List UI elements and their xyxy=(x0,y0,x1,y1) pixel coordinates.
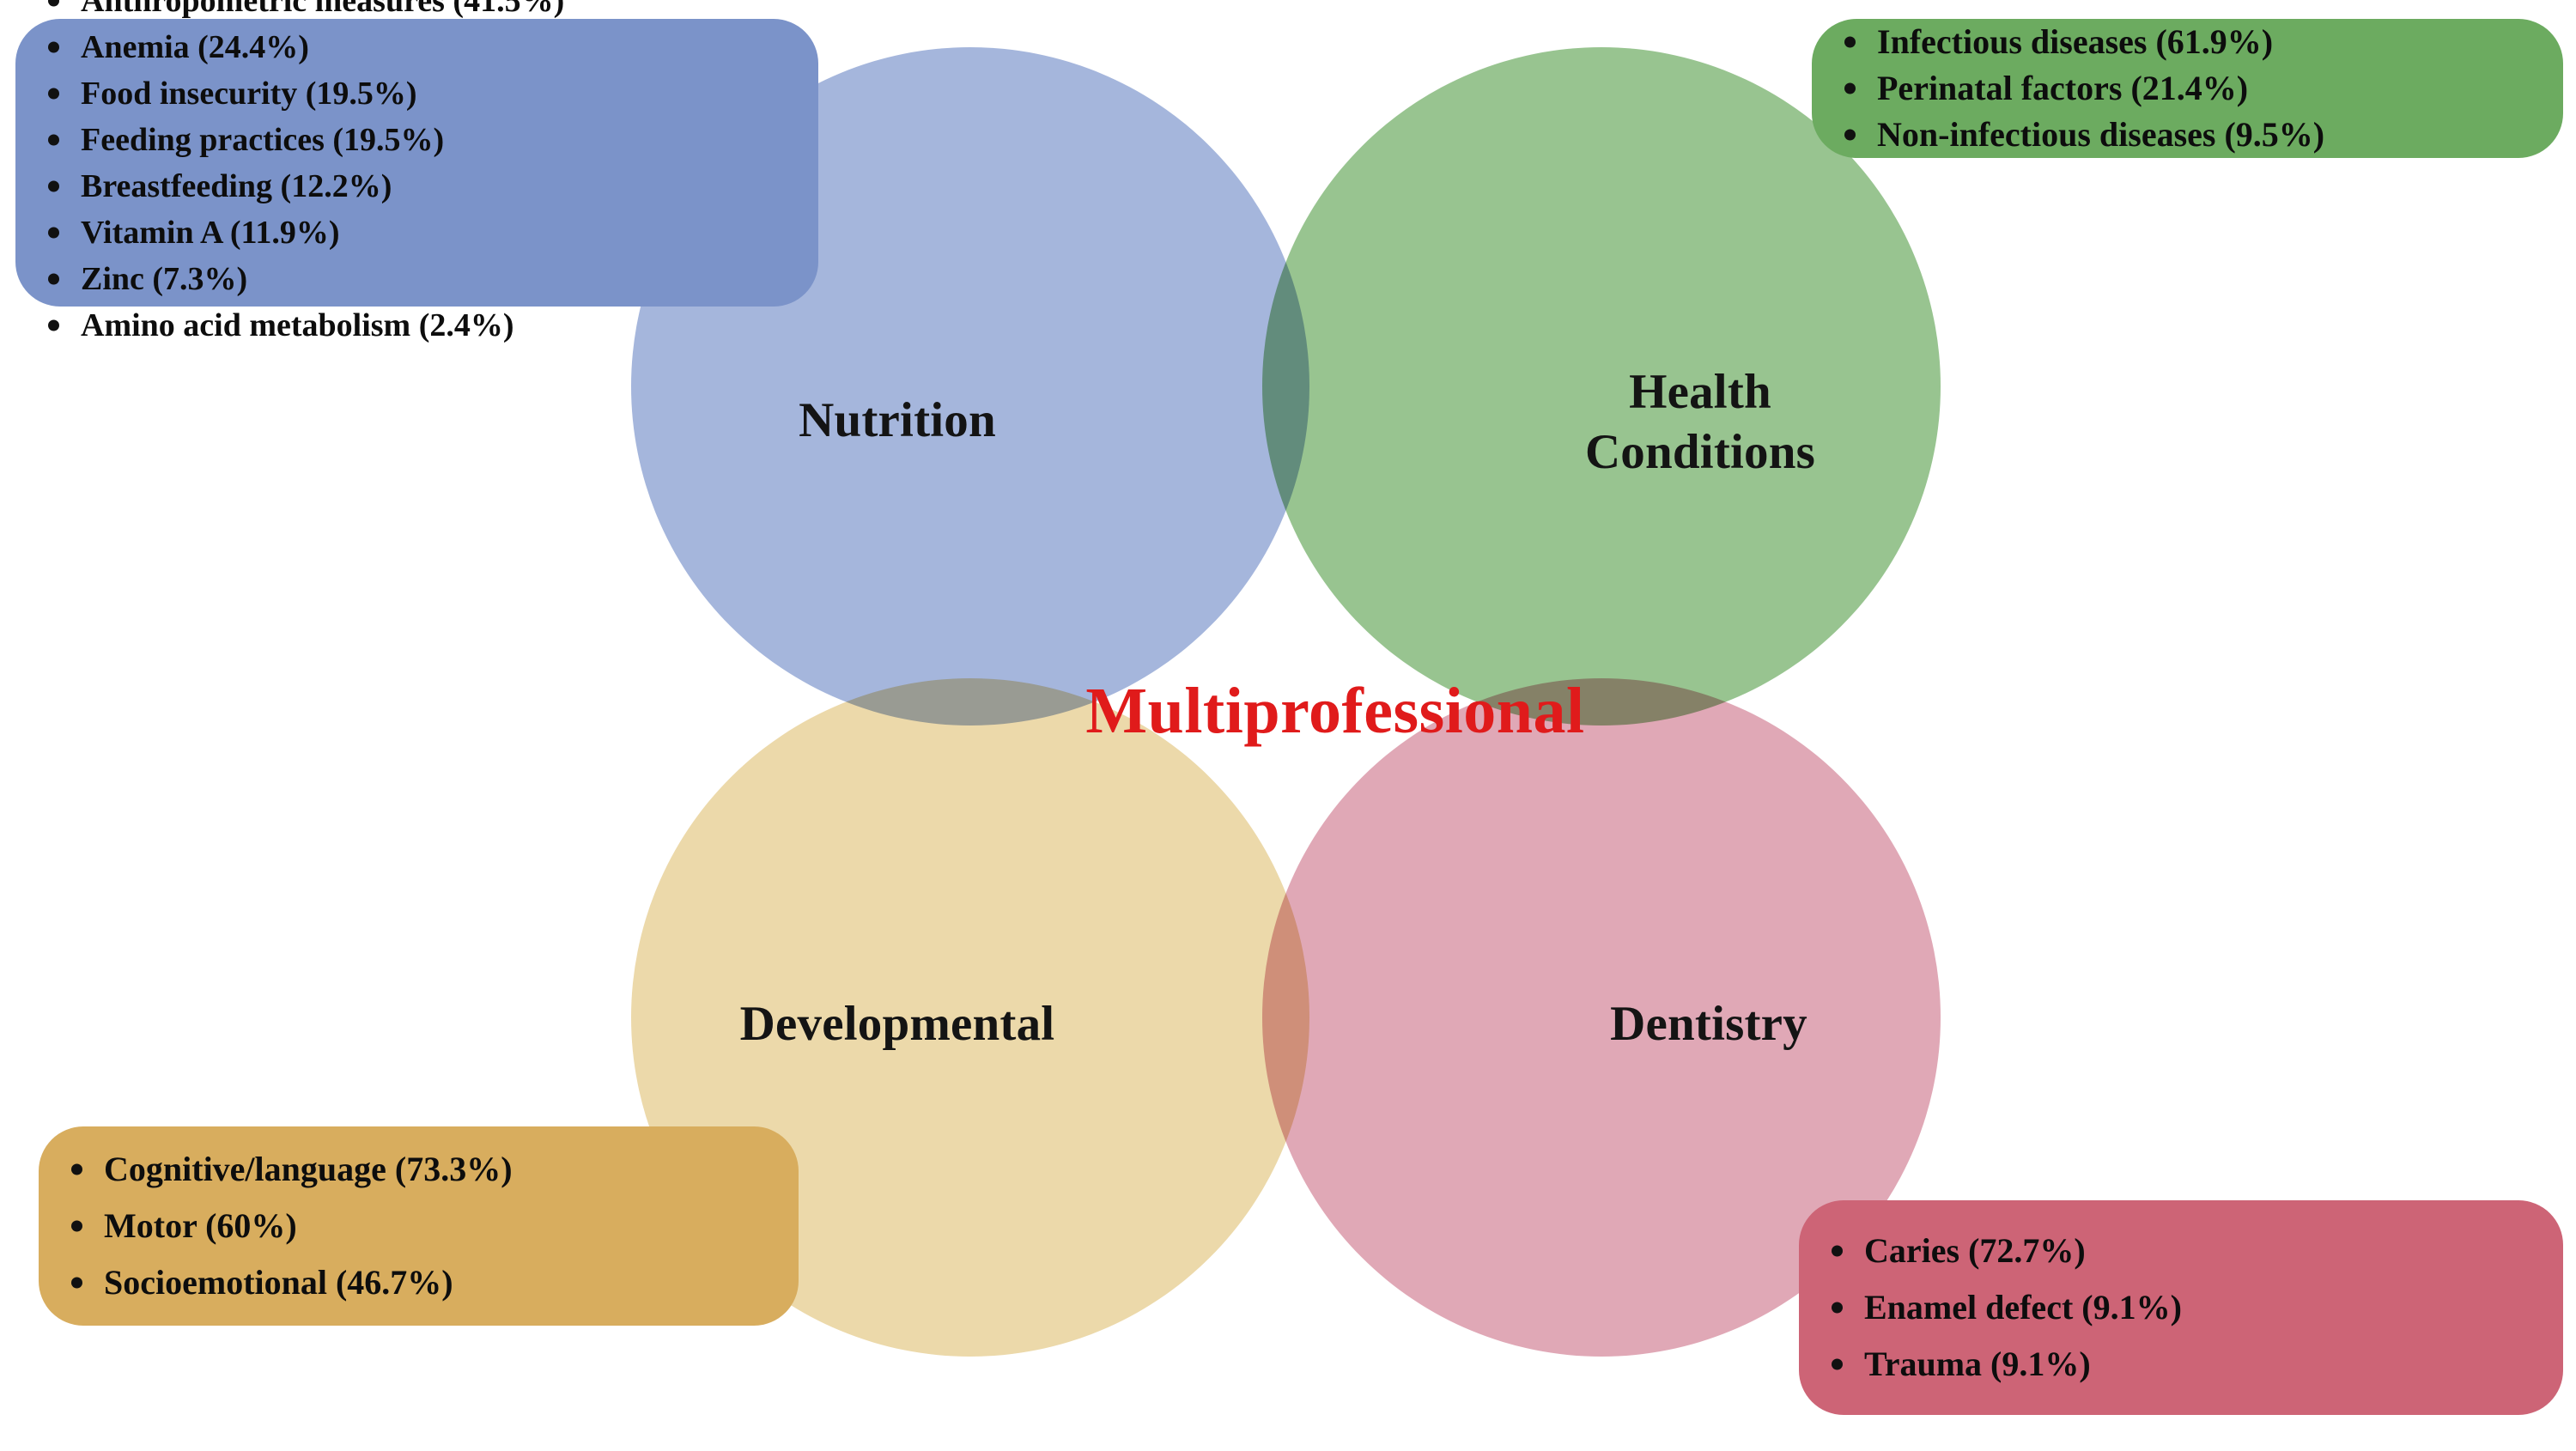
venn-label-dentistry: Dentistry xyxy=(1537,994,1880,1054)
venn-label-health: Health Conditions xyxy=(1511,362,1889,482)
list-item: Perinatal factors (21.4%) xyxy=(1838,71,2534,106)
list-item: Motor (60%) xyxy=(64,1209,769,1243)
bullet-icon xyxy=(1844,83,1856,94)
list-item-label: Caries (72.7%) xyxy=(1864,1231,2086,1270)
list-item: Anemia (24.4%) xyxy=(41,31,789,64)
list-item-label: Cognitive/language (73.3%) xyxy=(104,1150,513,1188)
venn-label-nutrition: Nutrition xyxy=(726,391,1069,451)
bullet-icon xyxy=(48,41,59,52)
list-item: Food insecurity (19.5%) xyxy=(41,77,789,110)
list-item: Feeding practices (19.5%) xyxy=(41,124,789,156)
callout-dentistry: Caries (72.7%) Enamel defect (9.1%) Trau… xyxy=(1799,1200,2563,1415)
list-item-label: Motor (60%) xyxy=(104,1206,297,1245)
callout-nutrition: Anthropometric measures (41.5%) Anemia (… xyxy=(15,19,818,307)
bullet-icon xyxy=(71,1164,82,1175)
list-item: Anthropometric measures (41.5%) xyxy=(41,0,789,17)
list-item: Infectious diseases (61.9%) xyxy=(1838,25,2534,59)
bullet-icon xyxy=(48,319,59,331)
list-item-label: Enamel defect (9.1%) xyxy=(1864,1288,2182,1327)
callout-health-list: Infectious diseases (61.9%) Perinatal fa… xyxy=(1838,25,2534,152)
list-item-label: Zinc (7.3%) xyxy=(81,261,247,297)
list-item-label: Anthropometric measures (41.5%) xyxy=(81,0,564,19)
list-item-label: Perinatal factors (21.4%) xyxy=(1877,69,2248,107)
list-item-label: Food insecurity (19.5%) xyxy=(81,76,417,112)
center-title: Multiprofessional xyxy=(876,674,1795,749)
bullet-icon xyxy=(48,227,59,238)
list-item: Caries (72.7%) xyxy=(1825,1234,2534,1268)
list-item: Trauma (9.1%) xyxy=(1825,1347,2534,1381)
bullet-icon xyxy=(48,180,59,191)
bullet-icon xyxy=(1832,1302,1843,1314)
list-item: Zinc (7.3%) xyxy=(41,263,789,295)
venn-label-developmental: Developmental xyxy=(713,994,1082,1054)
venn-diagram-canvas: Nutrition Health Conditions Developmenta… xyxy=(0,0,2576,1451)
bullet-icon xyxy=(71,1278,82,1289)
list-item: Vitamin A (11.9%) xyxy=(41,216,789,249)
callout-nutrition-list: Anthropometric measures (41.5%) Anemia (… xyxy=(41,0,789,342)
callout-developmental-list: Cognitive/language (73.3%) Motor (60%) S… xyxy=(64,1152,769,1300)
bullet-icon xyxy=(1844,37,1856,48)
callout-developmental: Cognitive/language (73.3%) Motor (60%) S… xyxy=(39,1126,799,1326)
list-item-label: Trauma (9.1%) xyxy=(1864,1345,2091,1383)
bullet-icon xyxy=(48,273,59,284)
list-item-label: Anemia (24.4%) xyxy=(81,29,309,65)
callout-dentistry-list: Caries (72.7%) Enamel defect (9.1%) Trau… xyxy=(1825,1234,2534,1381)
list-item: Non-infectious diseases (9.5%) xyxy=(1838,118,2534,152)
list-item-label: Amino acid metabolism (2.4%) xyxy=(81,307,514,343)
list-item: Amino acid metabolism (2.4%) xyxy=(41,309,789,342)
list-item: Enamel defect (9.1%) xyxy=(1825,1290,2534,1325)
bullet-icon xyxy=(48,134,59,145)
bullet-icon xyxy=(1844,130,1856,141)
list-item-label: Feeding practices (19.5%) xyxy=(81,122,444,158)
list-item-label: Infectious diseases (61.9%) xyxy=(1877,22,2273,61)
bullet-icon xyxy=(71,1221,82,1232)
list-item-label: Non-infectious diseases (9.5%) xyxy=(1877,115,2324,154)
bullet-icon xyxy=(48,0,59,6)
list-item: Socioemotional (46.7%) xyxy=(64,1266,769,1300)
list-item: Cognitive/language (73.3%) xyxy=(64,1152,769,1187)
bullet-icon xyxy=(1832,1359,1843,1370)
callout-health: Infectious diseases (61.9%) Perinatal fa… xyxy=(1812,19,2563,158)
list-item-label: Socioemotional (46.7%) xyxy=(104,1263,453,1302)
list-item-label: Breastfeeding (12.2%) xyxy=(81,168,392,204)
bullet-icon xyxy=(48,88,59,99)
bullet-icon xyxy=(1832,1246,1843,1257)
list-item: Breastfeeding (12.2%) xyxy=(41,170,789,203)
list-item-label: Vitamin A (11.9%) xyxy=(81,215,340,251)
